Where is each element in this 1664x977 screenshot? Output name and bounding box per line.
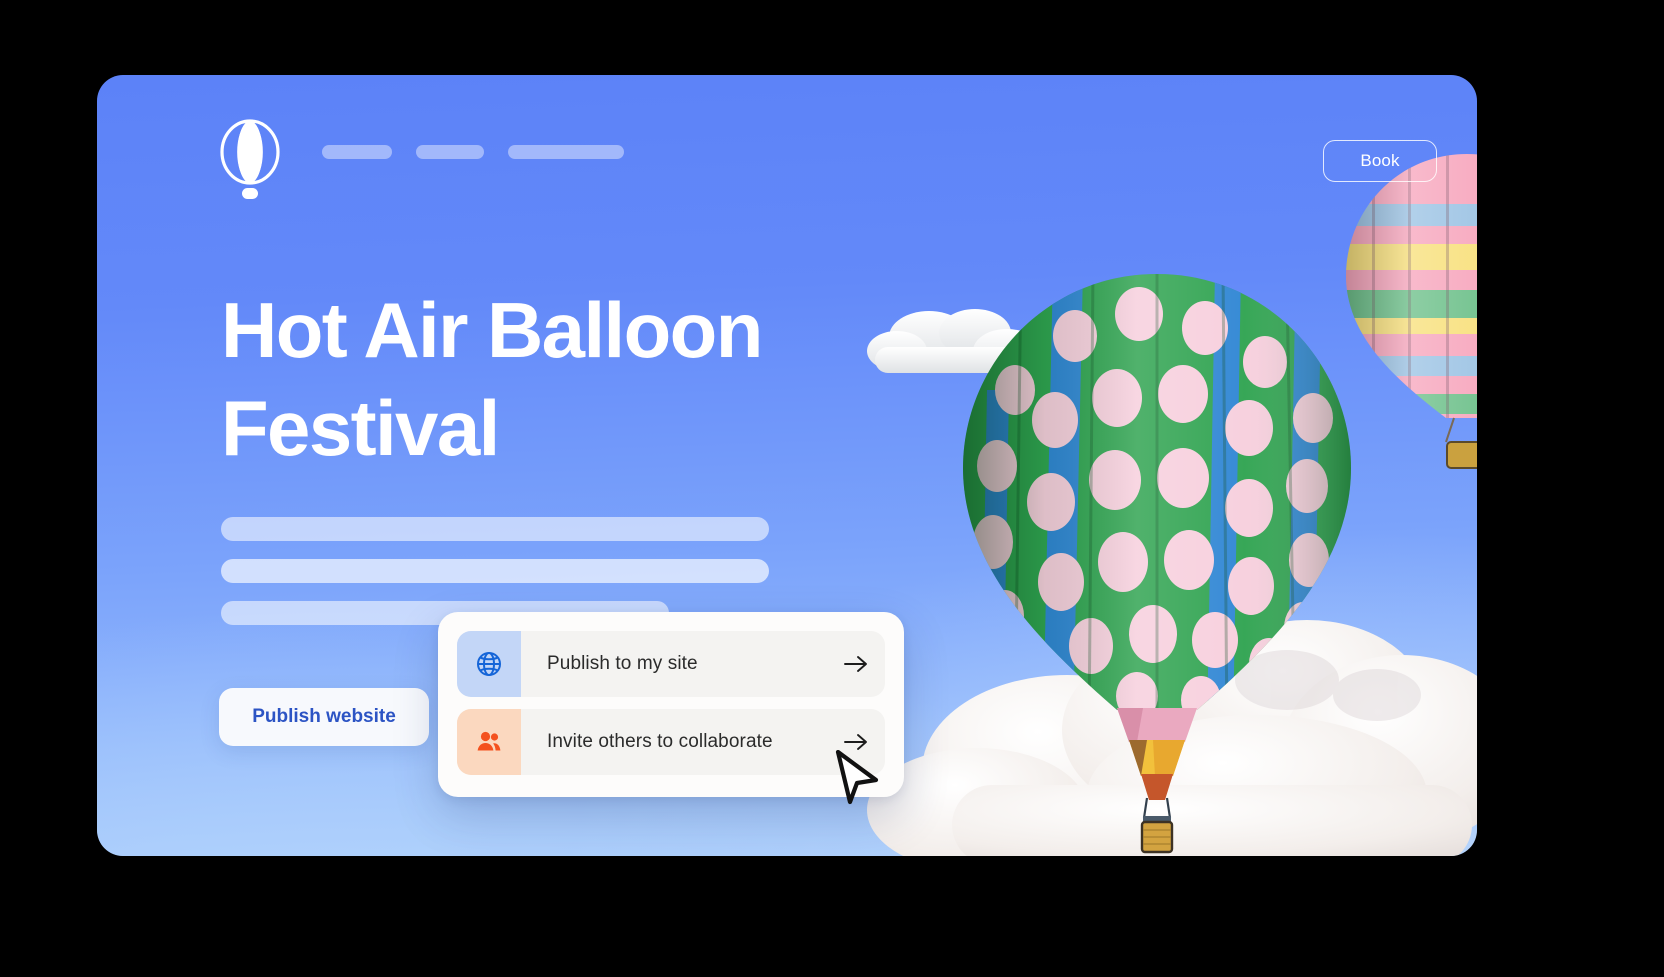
cloud-bank-icon — [857, 620, 1477, 856]
menu-item-invite-others-to-collaborate[interactable]: Invite others to collaborate — [457, 709, 885, 775]
site-navbar: Book — [97, 75, 1477, 205]
arrow-right-icon — [843, 732, 869, 752]
nav-link-1[interactable] — [322, 145, 392, 159]
menu-item-publish-to-my-site[interactable]: Publish to my site — [457, 631, 885, 697]
menu-item-label: Invite others to collaborate — [521, 731, 843, 753]
arrow-right-icon — [843, 654, 869, 674]
screenshot-stage: Book Hot Air Balloon Festival Publish we… — [0, 0, 1664, 977]
publish-options-menu: Publish to my site — [438, 612, 904, 797]
publish-website-button[interactable]: Publish website — [219, 688, 429, 746]
cloud-small-icon — [867, 303, 1045, 383]
hot-air-balloon-logo-icon — [219, 118, 281, 204]
nav-link-2[interactable] — [416, 145, 484, 159]
globe-icon — [457, 631, 521, 697]
page-title: Hot Air Balloon Festival — [221, 281, 861, 478]
green-polka-dot-balloon-icon — [957, 270, 1357, 856]
menu-item-label: Publish to my site — [521, 653, 843, 675]
nav-links — [322, 145, 624, 159]
website-preview-card: Book Hot Air Balloon Festival Publish we… — [97, 75, 1477, 856]
skeleton-line-2 — [221, 559, 769, 583]
book-button[interactable]: Book — [1323, 140, 1437, 182]
people-icon — [457, 709, 521, 775]
nav-link-3[interactable] — [508, 145, 624, 159]
skeleton-line-1 — [221, 517, 769, 541]
